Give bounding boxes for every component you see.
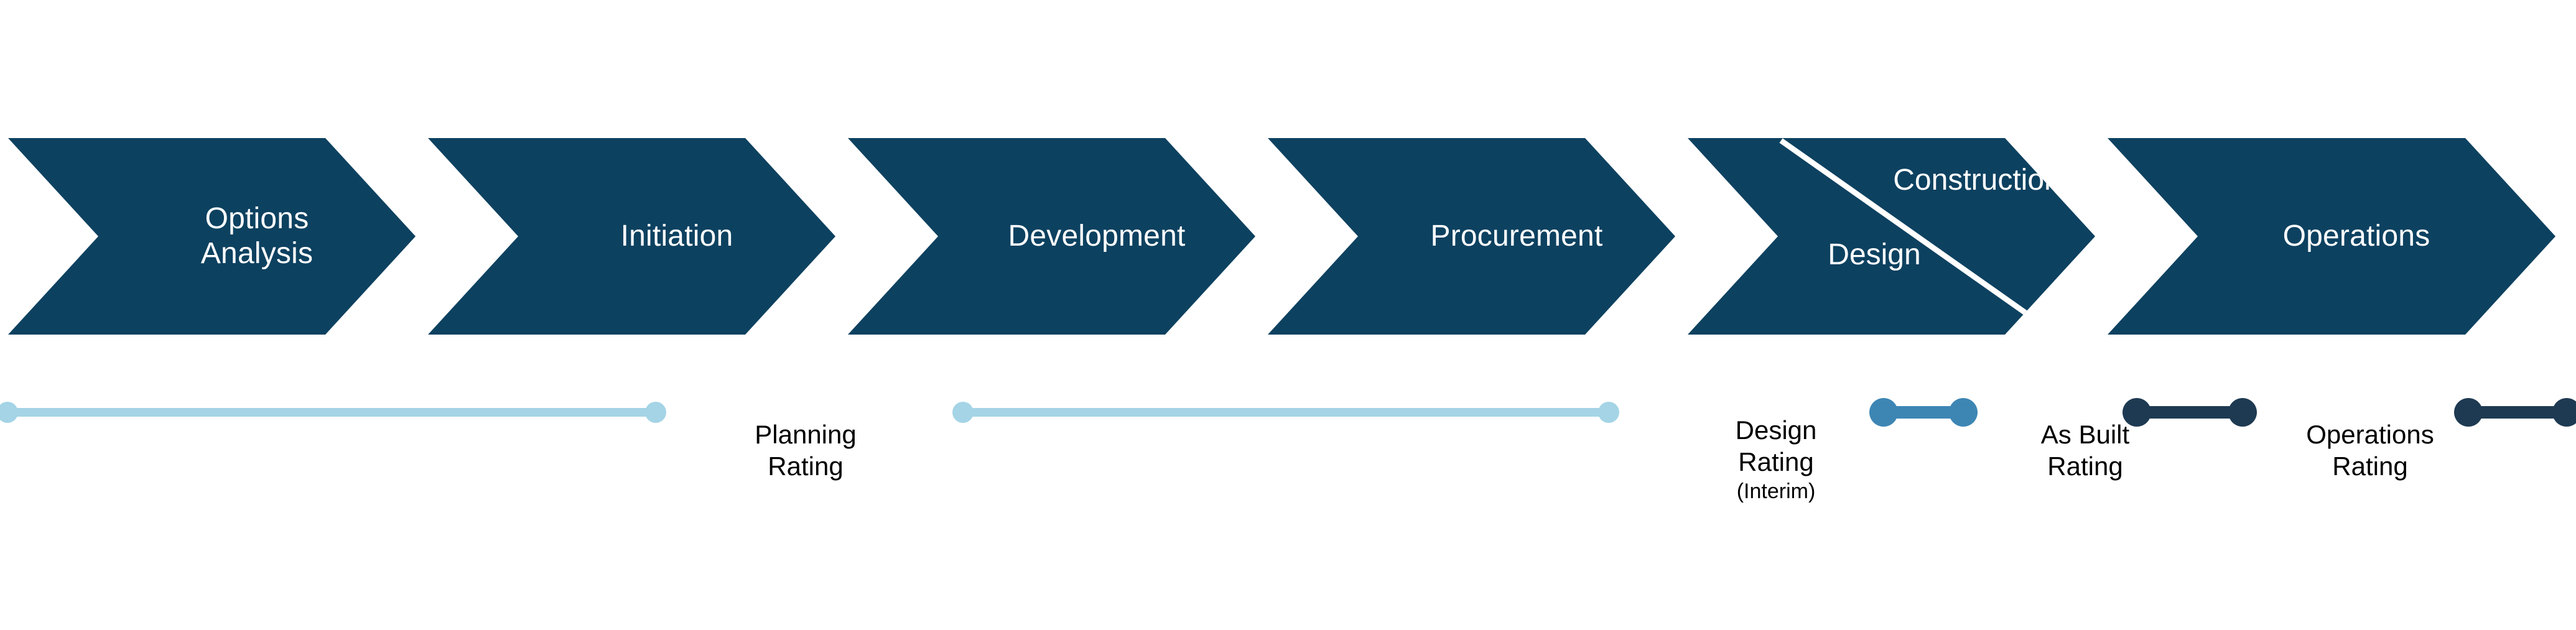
phase-label-procurement: Procurement bbox=[1358, 138, 1675, 335]
rating-marker-stem bbox=[2137, 406, 2243, 419]
rating-milestone-row: Planning Rating Design Rating (Interim) … bbox=[0, 348, 2576, 485]
rating-marker-cap-left bbox=[2454, 398, 2483, 427]
rating-marker-cap-left bbox=[1869, 398, 1898, 427]
rating-label-as-built-text: As Built Rating bbox=[2041, 420, 2129, 481]
rating-label-design-text: Design Rating bbox=[1736, 415, 1817, 476]
phase-chevron-options-analysis[interactable]: Options Analysis bbox=[8, 138, 416, 335]
rating-span-cap-right bbox=[1598, 402, 1619, 423]
phase-chevron-development[interactable]: Development bbox=[848, 138, 1255, 335]
phase-label-design: Design bbox=[1797, 238, 1952, 272]
rating-marker-cap-right bbox=[2552, 398, 2576, 427]
phase-chevron-procurement[interactable]: Procurement bbox=[1268, 138, 1675, 335]
rating-span-stem bbox=[963, 408, 1609, 417]
rating-label-operations-text: Operations Rating bbox=[2306, 420, 2434, 481]
rating-label-design: Design Rating (Interim) bbox=[1673, 382, 1879, 536]
diagram-canvas: Options Analysis Initiation Development … bbox=[0, 0, 2576, 630]
phase-label-operations: Operations bbox=[2198, 138, 2515, 335]
rating-label-as-built: As Built Rating bbox=[1973, 387, 2197, 483]
rating-span-cap-right bbox=[645, 402, 666, 423]
rating-marker-cap-left bbox=[2123, 398, 2151, 427]
rating-span-stem bbox=[7, 408, 656, 417]
rating-label-planning-text: Planning Rating bbox=[755, 420, 856, 481]
phase-chevron-band: Options Analysis Initiation Development … bbox=[0, 138, 2576, 335]
rating-label-operations: Operations Rating bbox=[2252, 387, 2488, 483]
phase-chevron-initiation[interactable]: Initiation bbox=[428, 138, 835, 335]
rating-label-design-sub: (Interim) bbox=[1673, 478, 1879, 505]
rating-span-cap-left bbox=[0, 402, 18, 423]
phase-label-construction: Construction bbox=[1874, 163, 2080, 198]
phase-chevron-operations[interactable]: Operations bbox=[2108, 138, 2555, 335]
rating-label-planning: Planning Rating bbox=[684, 387, 927, 483]
phase-chevron-design-construction[interactable]: Construction Design bbox=[1688, 138, 2095, 335]
phase-label-development: Development bbox=[938, 138, 1255, 335]
rating-span-cap-left bbox=[952, 402, 974, 423]
phase-label-options-analysis: Options Analysis bbox=[98, 138, 416, 335]
phase-label-initiation: Initiation bbox=[518, 138, 835, 335]
